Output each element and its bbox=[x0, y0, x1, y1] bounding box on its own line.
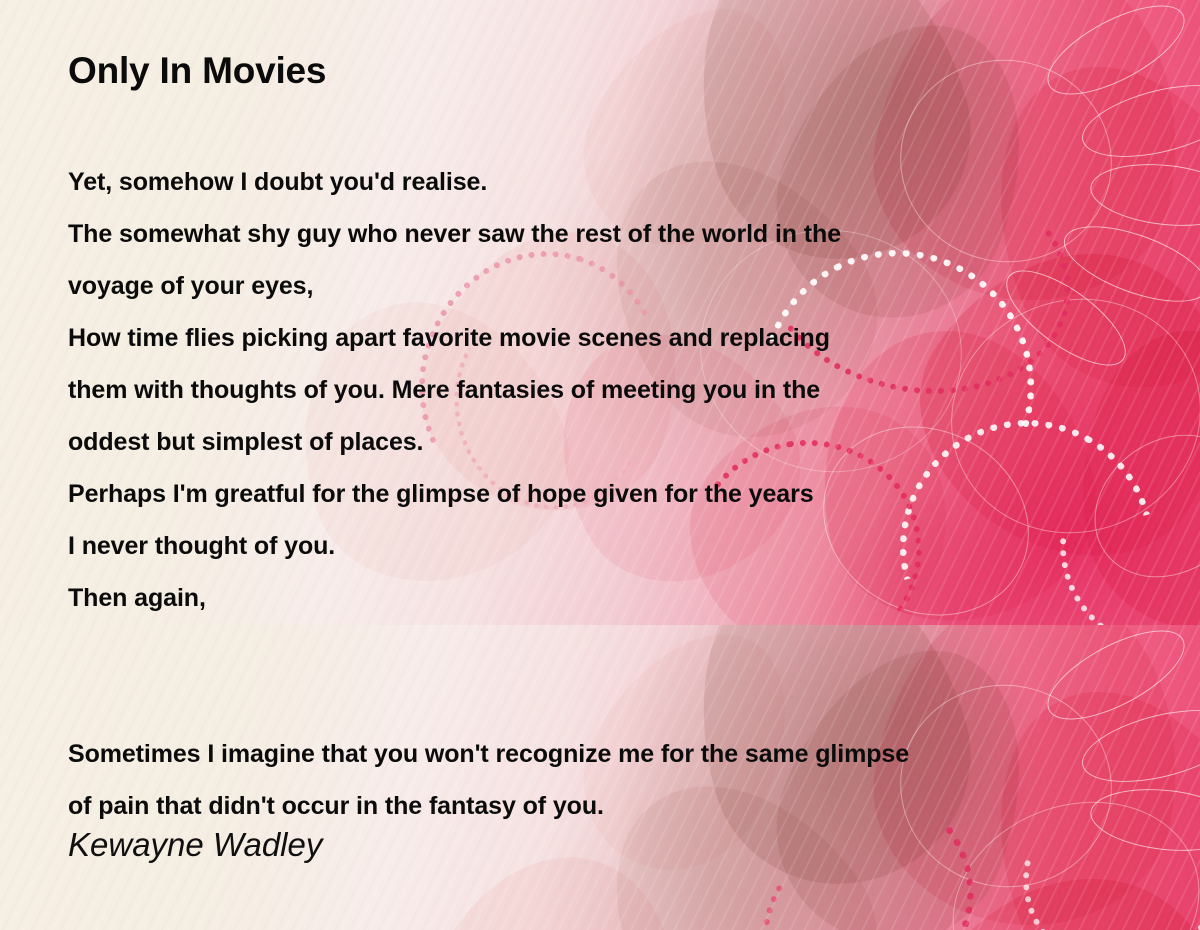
poem-line: Sometimes I imagine that you won't recog… bbox=[68, 728, 1188, 780]
poem-line-blank bbox=[68, 624, 1188, 676]
poem-line: How time flies picking apart favorite mo… bbox=[68, 312, 1188, 364]
poem-line-blank bbox=[68, 676, 1188, 728]
poem-stanzas: Yet, somehow I doubt you'd realise. The … bbox=[68, 156, 1188, 832]
poem-line: The somewhat shy guy who never saw the r… bbox=[68, 208, 1188, 260]
poem-line: them with thoughts of you. Mere fantasie… bbox=[68, 364, 1188, 416]
poem-line: Perhaps I'm greatful for the glimpse of … bbox=[68, 468, 1188, 520]
poem-line: Yet, somehow I doubt you'd realise. bbox=[68, 156, 1188, 208]
poem-line: Then again, bbox=[68, 572, 1188, 624]
poem-card: Only In Movies Yet, somehow I doubt you'… bbox=[0, 0, 1200, 930]
poem-line: I never thought of you. bbox=[68, 520, 1188, 572]
poem-line: oddest but simplest of places. bbox=[68, 416, 1188, 468]
poem-line: of pain that didn't occur in the fantasy… bbox=[68, 780, 1188, 832]
poem-title: Only In Movies bbox=[68, 50, 326, 93]
poem-line: voyage of your eyes, bbox=[68, 260, 1188, 312]
poem-text-layer: Only In Movies Yet, somehow I doubt you'… bbox=[0, 0, 1200, 930]
poem-author: Kewayne Wadley bbox=[68, 826, 322, 864]
